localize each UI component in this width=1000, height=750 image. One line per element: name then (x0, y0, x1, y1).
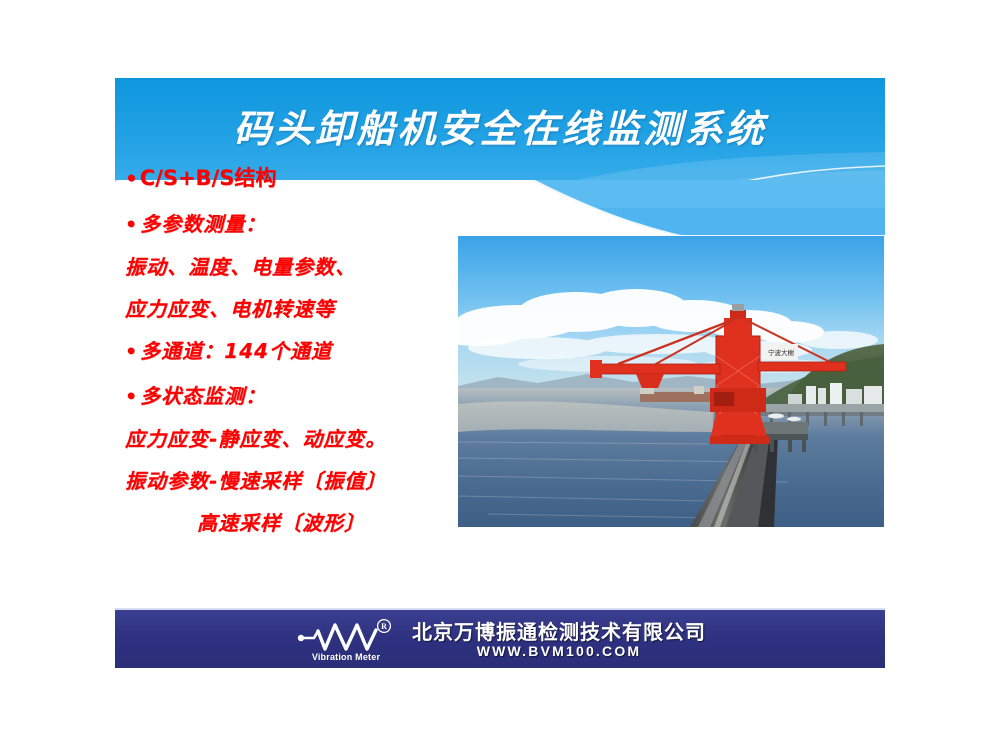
bullet-cs-bs: C/S+B/S结构 (125, 168, 475, 189)
bullet-multi-state: 多状态监测： (125, 386, 475, 407)
company-name: 北京万博振通检测技术有限公司 (412, 621, 706, 643)
text-param-list-1: 振动、温度、电量参数、 (125, 257, 475, 277)
logo-caption: Vibration Meter (300, 652, 392, 662)
ship-unloader-photo: 宁波大榭 (458, 236, 884, 527)
svg-text:R: R (381, 622, 387, 631)
footer-text-block: 北京万博振通检测技术有限公司 WWW.BVM100.COM (412, 621, 706, 660)
photo-illustration: 宁波大榭 (458, 236, 884, 527)
footer-bar: R Vibration Meter 北京万博振通检测技术有限公司 WWW.BVM… (115, 608, 885, 668)
text-vibration-fast-sampling: 高速采样〔波形〕 (125, 513, 475, 533)
text-vibration-slow-sampling: 振动参数-慢速采样〔振值〕 (125, 471, 475, 491)
bullet-channels: 多通道：144个通道 (125, 341, 475, 362)
slide-title: 码头卸船机安全在线监测系统 (115, 98, 885, 153)
bullet-multi-param: 多参数测量： (125, 214, 475, 235)
text-param-list-2: 应力应变、电机转速等 (125, 299, 475, 319)
svg-text:宁波大榭: 宁波大榭 (768, 348, 795, 357)
text-strain-modes: 应力应变-静应变、动应变。 (125, 429, 475, 449)
company-logo: R Vibration Meter (294, 618, 398, 662)
company-url[interactable]: WWW.BVM100.COM (477, 643, 642, 660)
bullet-list: C/S+B/S结构 多参数测量： 振动、温度、电量参数、 应力应变、电机转速等 … (125, 168, 475, 533)
presentation-slide: 码头卸船机安全在线监测系统 C/S+B/S结构 多参数测量： 振动、温度、电量参… (0, 0, 1000, 750)
